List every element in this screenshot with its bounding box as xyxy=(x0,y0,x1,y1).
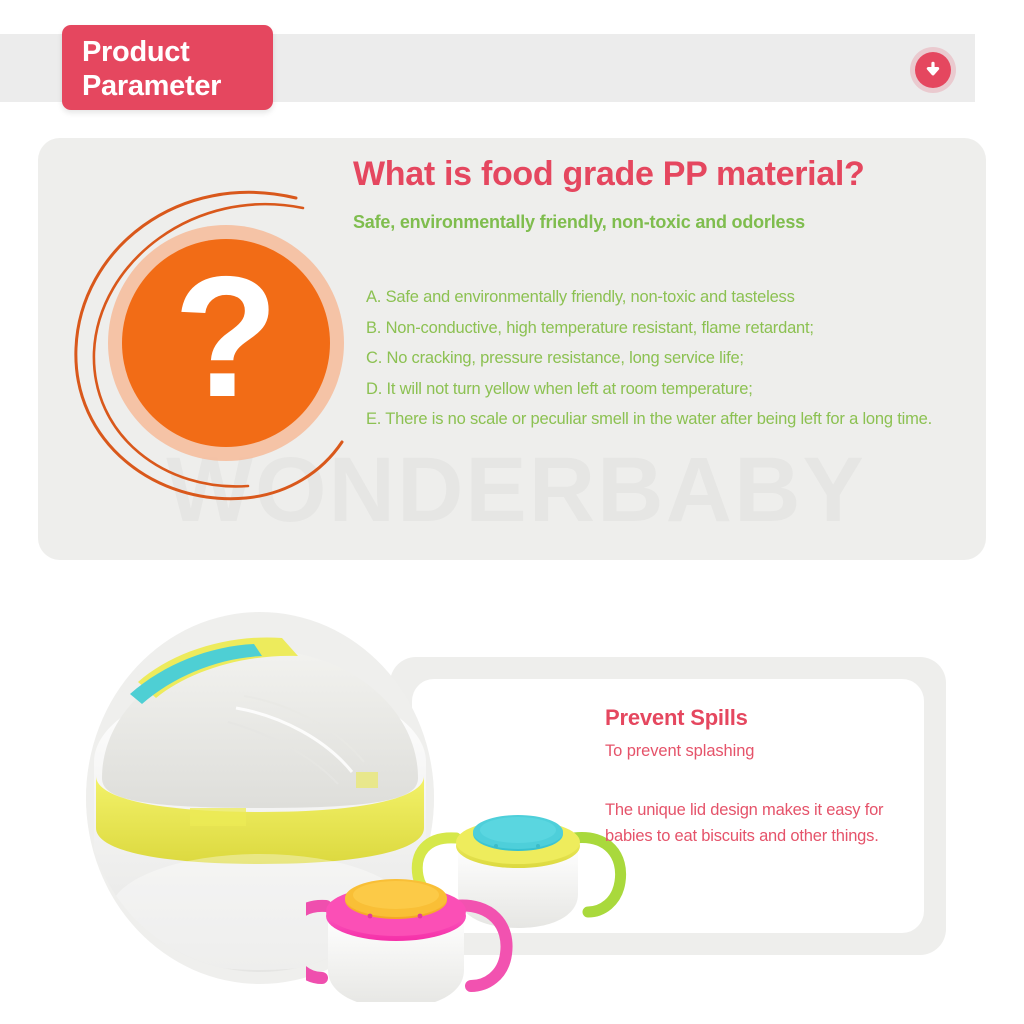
pp-material-feature-list: A. Safe and environmentally friendly, no… xyxy=(366,282,996,435)
list-item: E. There is no scale or peculiar smell i… xyxy=(366,404,996,435)
prevent-spills-body: The unique lid design makes it easy for … xyxy=(605,797,905,849)
badge-label: Product Parameter xyxy=(82,36,221,104)
prevent-spills-subtitle: To prevent splashing xyxy=(605,742,754,761)
prevent-spills-section: Prevent Spills To prevent splashing The … xyxy=(78,612,946,1002)
list-item: A. Safe and environmentally friendly, no… xyxy=(366,282,996,313)
pp-material-title: What is food grade PP material? xyxy=(353,155,865,194)
prevent-spills-heading: Prevent Spills xyxy=(605,705,748,731)
list-item: C. No cracking, pressure resistance, lon… xyxy=(366,343,996,374)
pp-material-subtitle: Safe, environmentally friendly, non-toxi… xyxy=(353,212,805,233)
list-item: D. It will not turn yellow when left at … xyxy=(366,374,996,405)
product-parameter-badge: Product Parameter xyxy=(62,25,273,110)
download-arrow-icon[interactable] xyxy=(915,52,951,88)
list-item: B. Non-conductive, high temperature resi… xyxy=(366,313,996,344)
